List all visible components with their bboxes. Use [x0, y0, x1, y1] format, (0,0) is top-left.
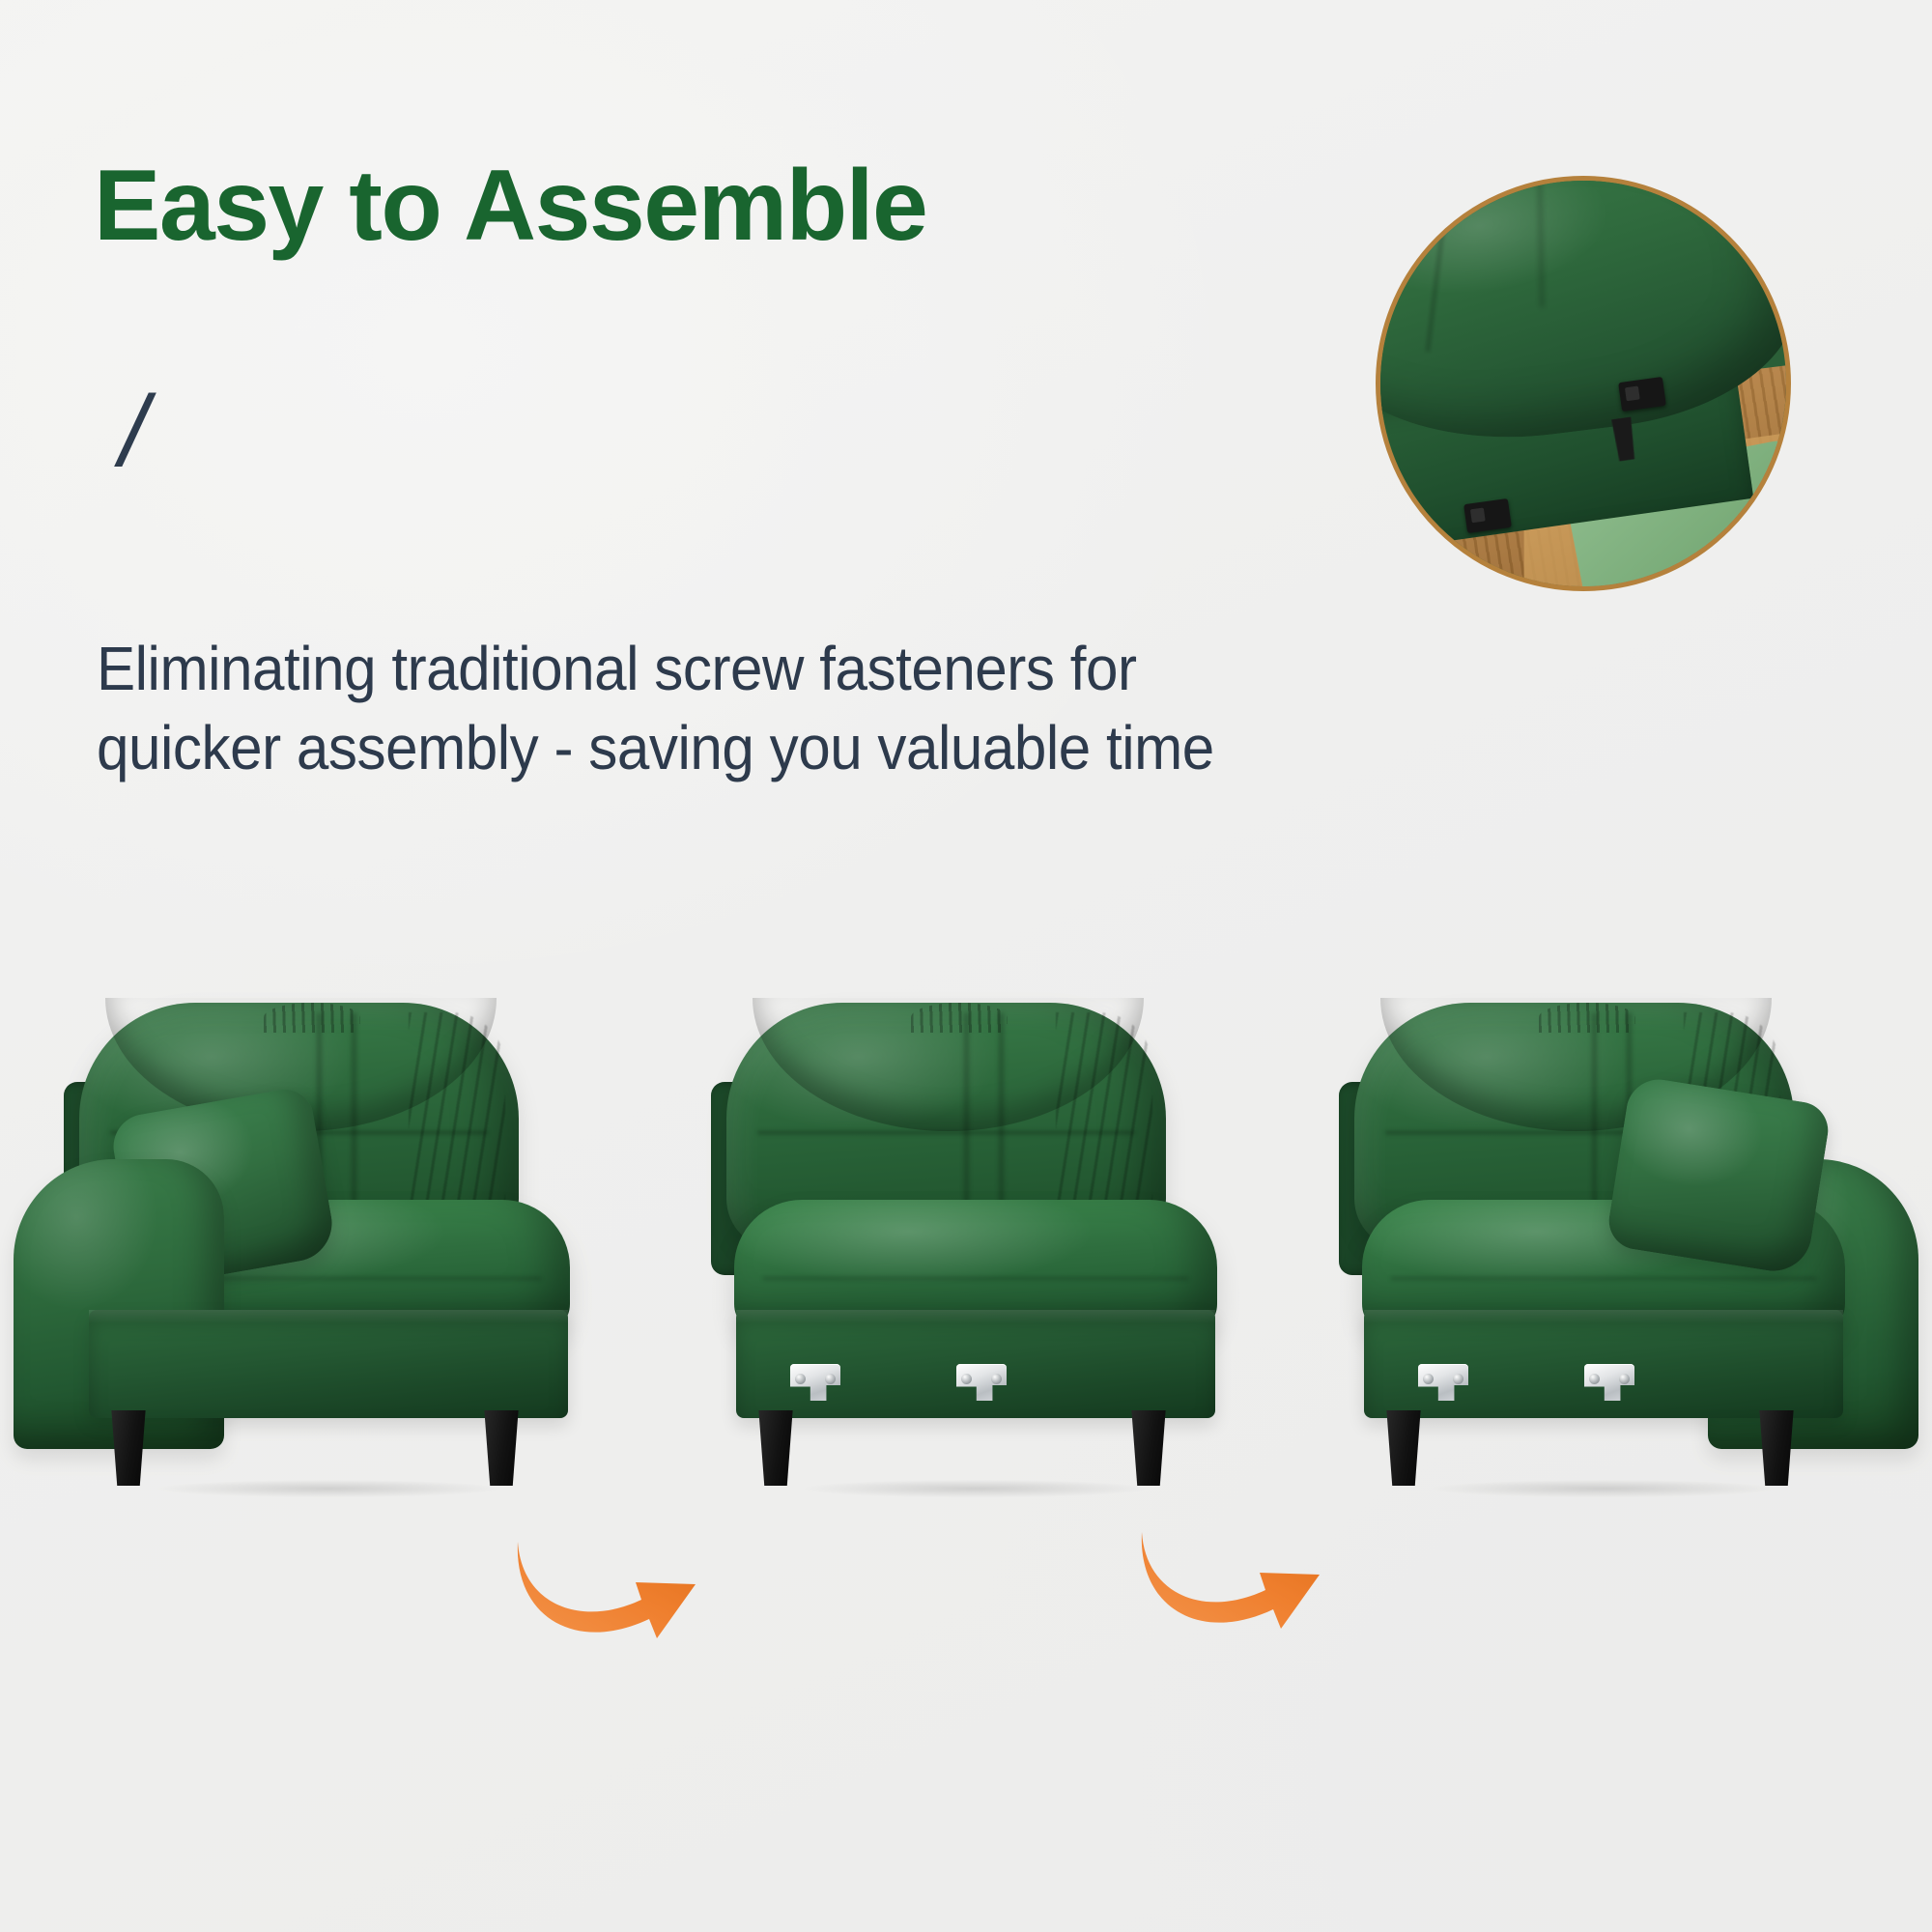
screw-icon — [1619, 1374, 1630, 1384]
screw-icon — [825, 1374, 836, 1384]
fastener-clip-icon — [1463, 498, 1512, 533]
screw-icon — [795, 1374, 806, 1384]
front-left-leg — [108, 1410, 149, 1486]
body-line-2: quicker assembly - saving you valuable t… — [97, 709, 1195, 788]
right-arm-module — [1294, 985, 1913, 1642]
backrest-pleat — [352, 1012, 356, 1224]
backrest-pleat — [999, 1012, 1004, 1224]
connect-arrow-icon-1 — [512, 1524, 705, 1650]
body-copy: Eliminating traditional screw fasteners … — [97, 630, 1195, 788]
screw-icon — [961, 1374, 972, 1384]
connect-arrow-icon-2 — [1136, 1515, 1329, 1640]
front-left-leg — [1383, 1410, 1424, 1486]
body-line-1: Eliminating traditional screw fasteners … — [97, 630, 1195, 709]
backrest-pleat — [1592, 1012, 1597, 1224]
screw-icon — [1589, 1374, 1600, 1384]
fabric-fastener-closeup-photo — [1376, 176, 1791, 591]
divider-slash: / — [120, 382, 148, 482]
front-left-leg — [755, 1410, 796, 1486]
fabric-fold — [1426, 182, 1451, 352]
backrest-pleat — [964, 1012, 969, 1224]
throw-pillow — [1605, 1075, 1832, 1277]
base-top-rim — [1364, 1310, 1843, 1323]
fastener-clip-icon — [1618, 377, 1666, 412]
module-row — [0, 985, 1932, 1642]
fabric-fold — [1537, 176, 1545, 306]
seat-crease — [1391, 1277, 1816, 1280]
page-title: Easy to Assemble — [94, 155, 926, 257]
screw-icon — [1423, 1374, 1434, 1384]
screw-icon — [991, 1374, 1002, 1384]
front-right-leg — [1128, 1410, 1169, 1486]
front-right-leg — [1756, 1410, 1797, 1486]
seat-crease — [763, 1277, 1188, 1280]
base-top-rim — [89, 1310, 568, 1323]
module-base — [89, 1310, 568, 1418]
screw-icon — [1453, 1374, 1463, 1384]
front-right-leg — [481, 1410, 522, 1486]
base-top-rim — [736, 1310, 1215, 1323]
